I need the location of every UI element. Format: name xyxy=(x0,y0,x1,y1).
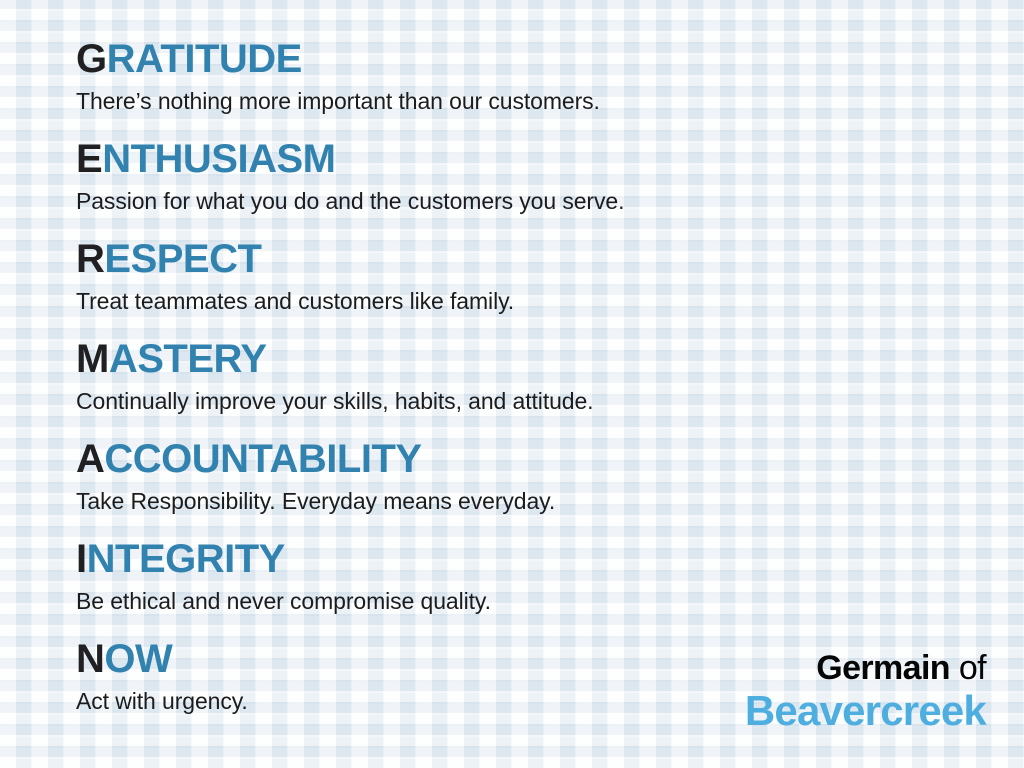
value-word-gratitude: GRATITUDE xyxy=(76,36,956,82)
value-word-enthusiasm: ENTHUSIASM xyxy=(76,136,956,182)
value-description-enthusiasm: Passion for what you do and the customer… xyxy=(76,186,956,216)
value-word-remainder: RATITUDE xyxy=(107,37,302,81)
value-word-accountability: ACCOUNTABILITY xyxy=(76,436,956,482)
value-initial-letter: N xyxy=(76,637,104,681)
value-entry-respect: RESPECT Treat teammates and customers li… xyxy=(76,236,956,336)
value-entry-mastery: MASTERY Continually improve your skills,… xyxy=(76,336,956,436)
value-word-mastery: MASTERY xyxy=(76,336,956,382)
value-initial-letter: M xyxy=(76,337,109,381)
value-entry-integrity: INTEGRITY Be ethical and never compromis… xyxy=(76,536,956,636)
value-word-remainder: ESPECT xyxy=(104,237,261,281)
brand-location-name: Beavercreek xyxy=(745,688,986,734)
value-description-integrity: Be ethical and never compromise quality. xyxy=(76,586,956,616)
value-initial-letter: A xyxy=(76,437,104,481)
value-description-gratitude: There’s nothing more important than our … xyxy=(76,86,956,116)
value-word-remainder: OW xyxy=(104,637,172,681)
core-values-list: GRATITUDE There’s nothing more important… xyxy=(76,36,956,736)
brand-dealer-name: Germain xyxy=(816,649,950,687)
value-word-remainder: ASTERY xyxy=(109,337,267,381)
value-description-accountability: Take Responsibility. Everyday means ever… xyxy=(76,486,956,516)
value-word-remainder: NTEGRITY xyxy=(87,537,285,581)
value-entry-enthusiasm: ENTHUSIASM Passion for what you do and t… xyxy=(76,136,956,236)
value-description-respect: Treat teammates and customers like famil… xyxy=(76,286,956,316)
value-initial-letter: I xyxy=(76,537,87,581)
value-word-respect: RESPECT xyxy=(76,236,956,282)
value-word-integrity: INTEGRITY xyxy=(76,536,956,582)
value-initial-letter: R xyxy=(76,237,104,281)
value-word-remainder: CCOUNTABILITY xyxy=(104,437,421,481)
value-entry-accountability: ACCOUNTABILITY Take Responsibility. Ever… xyxy=(76,436,956,536)
brand-logo: Germain of Beavercreek xyxy=(745,649,986,734)
value-description-mastery: Continually improve your skills, habits,… xyxy=(76,386,956,416)
value-word-remainder: NTHUSIASM xyxy=(102,137,335,181)
value-initial-letter: E xyxy=(76,137,102,181)
brand-connector-word: of xyxy=(959,649,986,687)
slide-canvas: GRATITUDE There’s nothing more important… xyxy=(0,0,1024,768)
value-entry-gratitude: GRATITUDE There’s nothing more important… xyxy=(76,36,956,136)
value-initial-letter: G xyxy=(76,37,107,81)
brand-logo-line-top: Germain of xyxy=(745,649,986,687)
